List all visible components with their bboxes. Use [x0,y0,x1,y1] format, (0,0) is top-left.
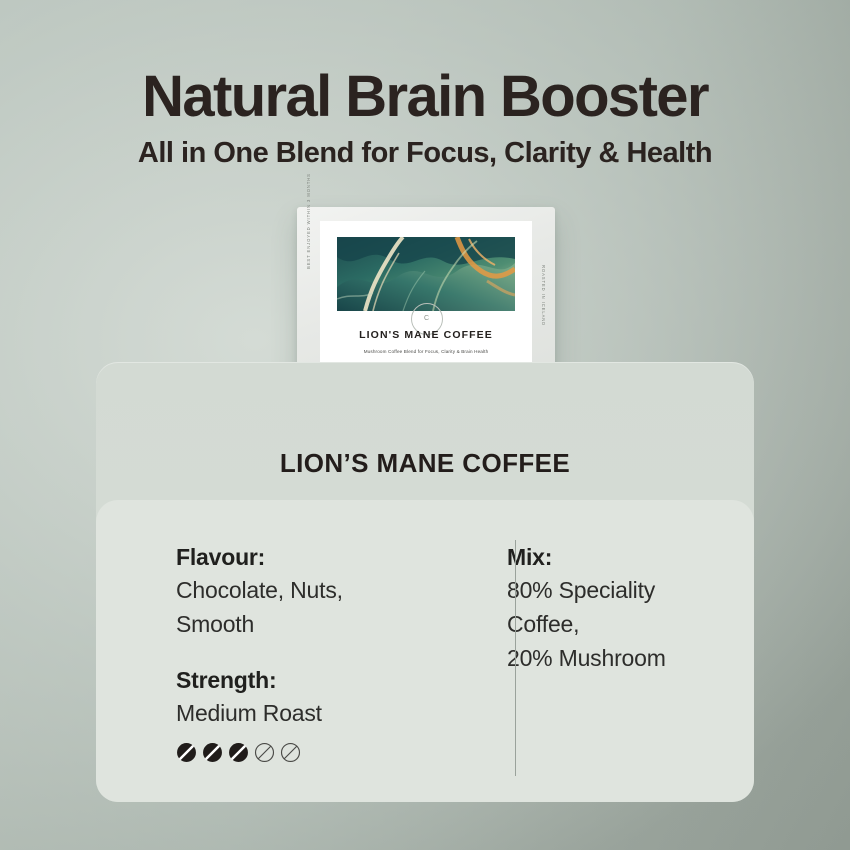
spec-value: Medium Roast [176,696,425,730]
package-side-text-right: ROASTED IN ICELAND [541,265,546,326]
page-title: Natural Brain Booster [0,66,850,127]
coffee-bean-empty-icon [254,742,275,763]
spec-flavour: Flavour: Chocolate, Nuts, Smooth [176,544,425,641]
coffee-bean-filled-icon [228,742,249,763]
spec-label: Strength: [176,667,425,694]
spec-label: Flavour: [176,544,425,571]
spec-strength: Strength: Medium Roast [176,667,425,763]
specs-column-right: Mix: 80% Speciality Coffee, 20% Mushroom [425,524,754,794]
product-name: LION’S MANE COFFEE [96,448,754,479]
header: Natural Brain Booster All in One Blend f… [0,66,850,170]
package-subtitle: Mushroom Coffee Blend for Focus, Clarity… [320,349,532,354]
spec-value: Chocolate, Nuts, Smooth [176,573,425,641]
spec-mix: Mix: 80% Speciality Coffee, 20% Mushroom [507,544,754,675]
strength-rating [176,742,425,763]
coffee-bean-filled-icon [202,742,223,763]
product-specs: Flavour: Chocolate, Nuts, Smooth Strengt… [96,524,754,794]
spec-value: 80% Speciality Coffee, 20% Mushroom [507,573,754,675]
page-subtitle: All in One Blend for Focus, Clarity & He… [0,137,850,169]
marbled-artwork-icon [337,237,515,311]
package-side-text-left: BEST ENJOYED WITHIN 3 MONTHS [306,173,311,269]
coffee-bean-filled-icon [176,742,197,763]
spec-label: Mix: [507,544,754,571]
specs-column-left: Flavour: Chocolate, Nuts, Smooth Strengt… [96,524,425,794]
package-artwork [337,237,515,311]
specs-divider [515,540,516,776]
coffee-bean-empty-icon [280,742,301,763]
promo-image: Natural Brain Booster All in One Blend f… [0,0,850,850]
package-title: LION'S MANE COFFEE [320,329,532,341]
